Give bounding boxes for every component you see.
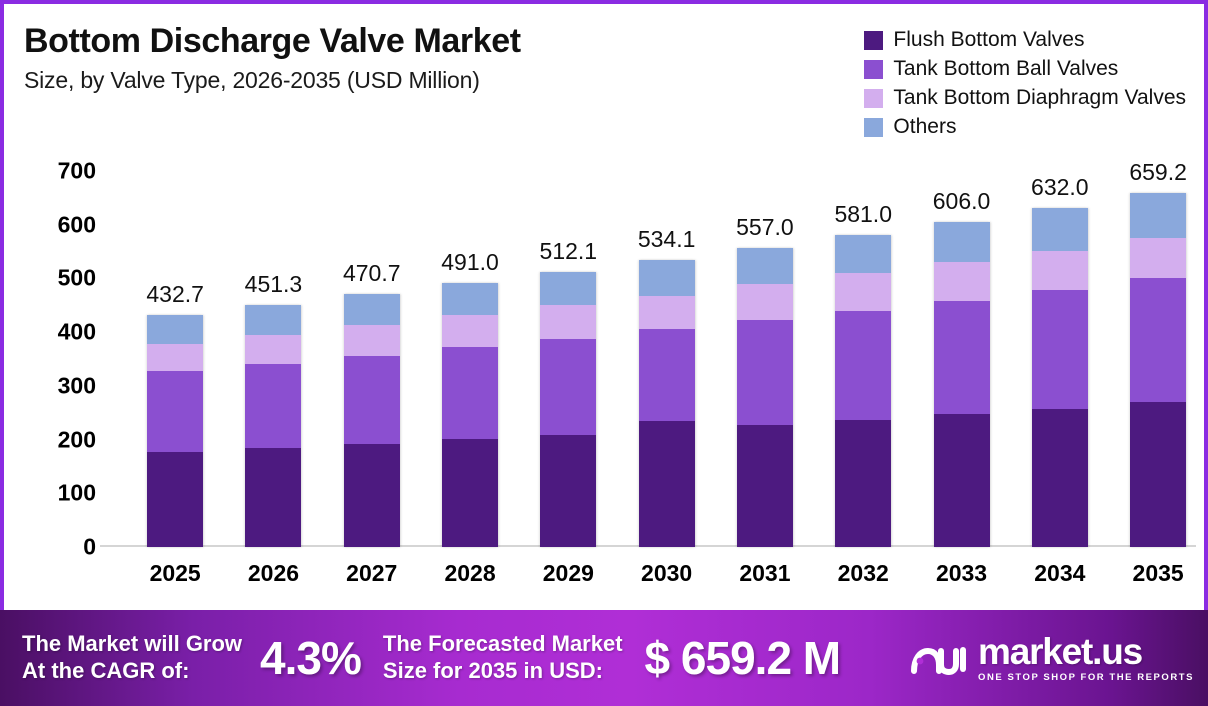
bar-segment[interactable]	[442, 315, 498, 347]
bar-segment[interactable]	[147, 315, 203, 344]
cagr-caption: The Market will Grow At the CAGR of:	[22, 631, 242, 685]
bar-segment[interactable]	[1032, 208, 1088, 251]
bar-segment[interactable]	[934, 222, 990, 262]
bar-segment[interactable]	[639, 260, 695, 296]
x-axis-tick-label: 2031	[716, 560, 814, 594]
bar-segment[interactable]	[344, 356, 400, 444]
legend-swatch-icon	[864, 31, 883, 50]
bar-segment[interactable]	[1032, 409, 1088, 547]
bar-segment[interactable]	[1032, 290, 1088, 409]
plot-area: 7006005004003002001000 432.7451.3470.749…	[100, 164, 1200, 554]
bar-stack[interactable]	[737, 248, 793, 547]
x-axis-tick-label: 2026	[224, 560, 322, 594]
bar-segment[interactable]	[147, 452, 203, 547]
y-axis-tick-label: 100	[8, 480, 96, 507]
bar-total-label: 512.1	[540, 238, 598, 265]
bar-segment[interactable]	[245, 305, 301, 335]
bar-segment[interactable]	[245, 364, 301, 448]
bar-segment[interactable]	[1032, 251, 1088, 291]
forecast-caption-line1: The Forecasted Market	[383, 631, 623, 658]
bar-segment[interactable]	[934, 262, 990, 301]
y-axis-tick-label: 0	[8, 534, 96, 561]
x-axis-tick-label: 2025	[126, 560, 224, 594]
bar-segment[interactable]	[737, 248, 793, 285]
page-subtitle: Size, by Valve Type, 2026-2035 (USD Mill…	[24, 67, 764, 94]
x-axis-tick-label: 2029	[519, 560, 617, 594]
bar-segment[interactable]	[639, 329, 695, 421]
y-axis-tick-label: 200	[8, 426, 96, 453]
bar-segment[interactable]	[835, 311, 891, 421]
bar-segment[interactable]	[540, 435, 596, 547]
brand-text: market.us ONE STOP SHOP FOR THE REPORTS	[978, 633, 1194, 683]
bar-total-label: 432.7	[146, 281, 204, 308]
bar-total-label: 581.0	[834, 201, 892, 228]
bar-group[interactable]: 534.1	[617, 171, 715, 547]
x-axis-tick-label: 2033	[912, 560, 1010, 594]
bar-segment[interactable]	[639, 421, 695, 547]
bar-group[interactable]: 470.7	[323, 171, 421, 547]
header: Bottom Discharge Valve Market Size, by V…	[24, 22, 764, 94]
bar-total-label: 557.0	[736, 214, 794, 241]
bar-segment[interactable]	[737, 284, 793, 320]
legend-swatch-icon	[864, 118, 883, 137]
bar-segment[interactable]	[737, 425, 793, 547]
cagr-caption-line1: The Market will Grow	[22, 631, 242, 658]
bar-total-label: 659.2	[1129, 159, 1187, 186]
bar-stack[interactable]	[1130, 193, 1186, 547]
bar-segment[interactable]	[442, 283, 498, 315]
bar-group[interactable]: 659.2	[1109, 171, 1207, 547]
bar-segment[interactable]	[442, 347, 498, 439]
y-axis-tick-label: 400	[8, 319, 96, 346]
chart-legend: Flush Bottom ValvesTank Bottom Ball Valv…	[864, 28, 1186, 139]
brand-logo[interactable]: market.us ONE STOP SHOP FOR THE REPORTS	[910, 633, 1194, 683]
bar-total-label: 491.0	[441, 249, 499, 276]
forecast-caption: The Forecasted Market Size for 2035 in U…	[383, 631, 623, 685]
legend-item[interactable]: Flush Bottom Valves	[864, 28, 1084, 52]
forecast-caption-line2: Size for 2035 in USD:	[383, 658, 623, 685]
legend-item[interactable]: Tank Bottom Diaphragm Valves	[864, 86, 1186, 110]
legend-item-label: Tank Bottom Ball Valves	[893, 57, 1118, 81]
bar-segment[interactable]	[344, 294, 400, 325]
bar-segment[interactable]	[835, 235, 891, 273]
bar-total-label: 632.0	[1031, 174, 1089, 201]
bar-segment[interactable]	[245, 448, 301, 547]
bar-stack[interactable]	[934, 222, 990, 548]
bar-segment[interactable]	[934, 301, 990, 414]
bar-group[interactable]: 491.0	[421, 171, 519, 547]
bar-stack[interactable]	[344, 294, 400, 547]
legend-swatch-icon	[864, 60, 883, 79]
bar-group[interactable]: 512.1	[519, 171, 617, 547]
bar-segment[interactable]	[1130, 278, 1186, 402]
legend-item-label: Flush Bottom Valves	[893, 28, 1084, 52]
bar-group[interactable]: 606.0	[912, 171, 1010, 547]
bar-total-label: 470.7	[343, 260, 401, 287]
bar-stack[interactable]	[1032, 208, 1088, 547]
bar-group[interactable]: 632.0	[1011, 171, 1109, 547]
bar-stack[interactable]	[540, 272, 596, 547]
bar-segment[interactable]	[147, 344, 203, 371]
bar-segment[interactable]	[147, 371, 203, 452]
brand-name: market.us	[978, 633, 1194, 670]
y-axis-tick-label: 600	[8, 211, 96, 238]
bar-segment[interactable]	[1130, 238, 1186, 279]
x-axis-tick-label: 2027	[323, 560, 421, 594]
footer-banner: The Market will Grow At the CAGR of: 4.3…	[0, 610, 1208, 706]
bar-segment[interactable]	[442, 439, 498, 547]
x-axis-tick-label: 2028	[421, 560, 519, 594]
x-axis-tick-label: 2035	[1109, 560, 1207, 594]
bar-segment[interactable]	[540, 339, 596, 435]
y-axis: 7006005004003002001000	[8, 164, 96, 554]
cagr-caption-line2: At the CAGR of:	[22, 658, 242, 685]
bar-segment[interactable]	[540, 272, 596, 305]
legend-item[interactable]: Others	[864, 115, 956, 139]
bar-segment[interactable]	[344, 325, 400, 356]
y-axis-tick-label: 700	[8, 158, 96, 185]
bar-total-label: 451.3	[245, 271, 303, 298]
market-us-logo-icon	[910, 637, 968, 679]
bar-segment[interactable]	[540, 305, 596, 339]
bar-stack[interactable]	[442, 283, 498, 547]
bar-stack[interactable]	[835, 235, 891, 547]
bar-segment[interactable]	[737, 320, 793, 424]
bar-total-label: 606.0	[933, 188, 991, 215]
bar-stack[interactable]	[245, 305, 301, 547]
legend-item[interactable]: Tank Bottom Ball Valves	[864, 57, 1118, 81]
bar-total-label: 534.1	[638, 226, 696, 253]
page-title: Bottom Discharge Valve Market	[24, 22, 764, 60]
brand-tagline: ONE STOP SHOP FOR THE REPORTS	[978, 673, 1194, 683]
cagr-value: 4.3%	[260, 631, 361, 685]
legend-item-label: Tank Bottom Diaphragm Valves	[893, 86, 1186, 110]
x-axis-labels: 2025202620272028202920302031203220332034…	[126, 560, 1200, 594]
bar-series-container: 432.7451.3470.7491.0512.1534.1557.0581.0…	[126, 171, 1200, 547]
bar-segment[interactable]	[835, 273, 891, 311]
x-axis-tick-label: 2030	[617, 560, 715, 594]
bar-segment[interactable]	[245, 335, 301, 364]
legend-item-label: Others	[893, 115, 956, 139]
bar-group[interactable]: 451.3	[224, 171, 322, 547]
y-axis-tick-label: 300	[8, 372, 96, 399]
legend-swatch-icon	[864, 89, 883, 108]
y-axis-tick-label: 500	[8, 265, 96, 292]
chart-infographic: Bottom Discharge Valve Market Size, by V…	[0, 0, 1208, 706]
bar-segment[interactable]	[1130, 193, 1186, 238]
bar-segment[interactable]	[639, 296, 695, 329]
bar-segment[interactable]	[1130, 402, 1186, 546]
bar-group[interactable]: 432.7	[126, 171, 224, 547]
bar-segment[interactable]	[934, 414, 990, 547]
bar-group[interactable]: 557.0	[716, 171, 814, 547]
bar-segment[interactable]	[344, 444, 400, 547]
bar-segment[interactable]	[835, 420, 891, 547]
x-axis-tick-label: 2034	[1011, 560, 1109, 594]
bar-stack[interactable]	[147, 315, 203, 547]
bar-group[interactable]: 581.0	[814, 171, 912, 547]
forecast-value: $ 659.2 M	[645, 631, 841, 685]
x-axis-tick-label: 2032	[814, 560, 912, 594]
bar-stack[interactable]	[639, 260, 695, 547]
